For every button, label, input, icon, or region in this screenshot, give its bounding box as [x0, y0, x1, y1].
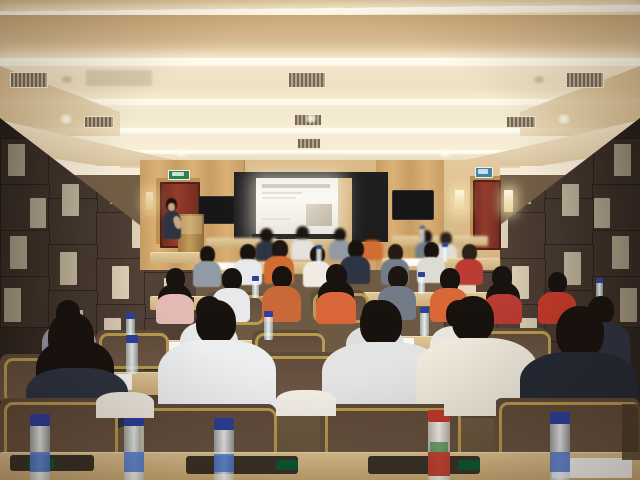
bottle-label-accent [430, 442, 448, 452]
attendee-head [272, 266, 292, 288]
attendee-head [548, 272, 567, 293]
downlight-5 [436, 148, 454, 157]
water-bottle [126, 342, 138, 374]
slide-image-block [306, 204, 332, 226]
slide-text-line [262, 218, 290, 220]
ceiling-vent-mid-right [506, 116, 536, 128]
bottle-cap [30, 414, 50, 426]
ceiling-shade-1 [0, 15, 640, 59]
bottle-cap [550, 412, 570, 424]
bottle-label [30, 452, 50, 472]
attendee-head [388, 266, 408, 288]
attendee-body [156, 294, 194, 324]
bottle-label-red [428, 452, 450, 476]
wall-sconce-right-a [455, 190, 464, 212]
exit-sign-left-glyph [172, 172, 184, 176]
ceiling-speaker-right [534, 76, 544, 83]
desk-mic-indicator [276, 460, 298, 470]
ceiling-vent-left [10, 72, 48, 88]
exit-sign-right-glyph [478, 169, 488, 174]
attendee-head [452, 296, 494, 342]
slide-text-line [262, 197, 296, 199]
ceiling-hatch-left [86, 70, 152, 86]
bottle-cap [126, 335, 138, 343]
presenter-face [168, 203, 175, 211]
bottle-cap [420, 307, 429, 313]
attendee-body [316, 292, 356, 324]
bottle-cap [252, 276, 259, 281]
bottle-label [214, 454, 234, 472]
conference-hall-photo [0, 0, 640, 480]
bottle-cap [420, 226, 425, 229]
attendee-head [556, 306, 604, 358]
wall-sconce-right-b [504, 190, 513, 212]
projection-screen [256, 178, 338, 234]
wall-monitor-right [392, 190, 434, 220]
water-bottle [264, 316, 273, 340]
downlight-1 [58, 114, 74, 124]
wall-accent-tile [514, 172, 531, 204]
desk-row-6 [0, 452, 640, 480]
attendee-head [296, 226, 309, 240]
attendee-head [196, 300, 236, 344]
water-bottle [252, 280, 259, 298]
ceiling-light-strip-2 [0, 58, 640, 66]
attendee-shoulder [276, 390, 336, 416]
water-bottle [442, 246, 448, 262]
water-bottle [316, 248, 322, 264]
water-bottle [420, 312, 429, 336]
attendee-shoulder [444, 392, 496, 416]
wall-sconce-left-a [146, 192, 153, 210]
downlight-2 [304, 114, 318, 123]
attendee-shoulder [96, 392, 154, 418]
right-wall-edge [622, 404, 640, 460]
bottle-cap [418, 272, 425, 277]
bottle-cap [596, 278, 603, 283]
ceiling-speaker-left [62, 76, 72, 83]
bottle-cap [214, 418, 234, 430]
ceiling-vent-right [566, 72, 604, 88]
wall-monitor-left [198, 196, 238, 224]
downlight-3 [556, 114, 572, 124]
ceiling-vent-center [288, 72, 326, 88]
bottle-cap [264, 311, 273, 317]
wall-accent-tile [110, 172, 127, 204]
water-bottle [418, 276, 425, 294]
ceiling-vent-mid-left [84, 116, 114, 128]
attendee-body [193, 261, 221, 287]
attendee-head [222, 268, 242, 290]
downlight-4 [172, 148, 190, 157]
slide-text-line [262, 192, 302, 194]
bottle-cap [126, 313, 135, 319]
water-bottle [420, 228, 425, 242]
desk-mic-indicator [458, 460, 480, 470]
bottle-cap [316, 245, 322, 249]
attendee-head [260, 228, 273, 242]
attendee-head [360, 300, 402, 346]
ceiling-vent-inner-low [297, 138, 321, 149]
bottle-cap [442, 243, 448, 247]
bottle-label [550, 452, 570, 472]
attendee-head [440, 268, 460, 290]
podium-top-highlight [180, 216, 202, 234]
bottle-label [124, 452, 144, 472]
slide-header-bar [262, 184, 330, 188]
